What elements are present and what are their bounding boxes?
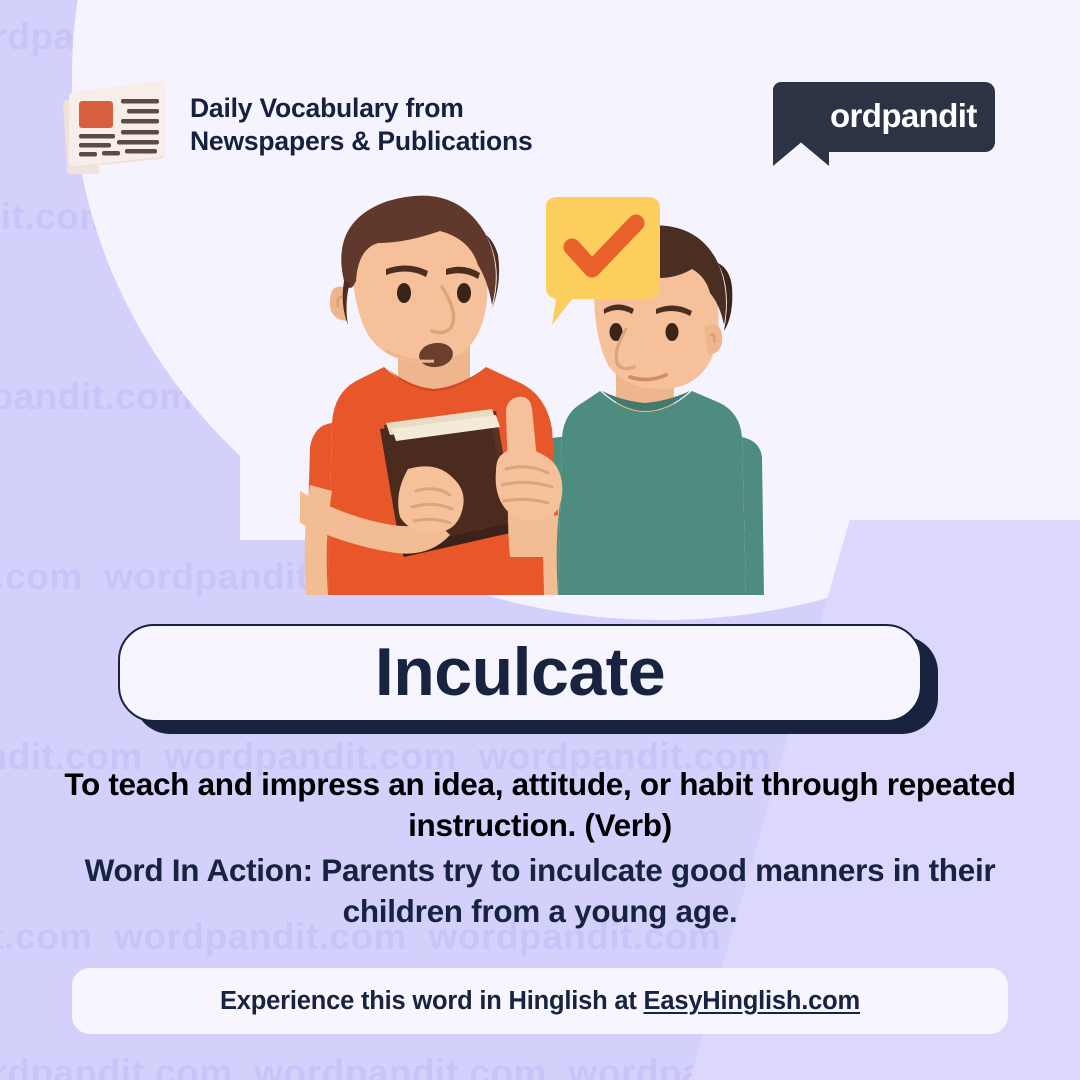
word-in-action-example: Word In Action: Parents try to inculcate…: [40, 850, 1040, 931]
man-teaching-boy-illustration: [300, 185, 780, 595]
vocabulary-word: Inculcate: [375, 638, 665, 706]
footer-text: Experience this word in Hinglish at Easy…: [220, 987, 860, 1016]
wordpandit-logo[interactable]: ordpandit: [773, 82, 995, 152]
word-card-surface: Inculcate: [118, 624, 922, 722]
page-title: Daily Vocabulary from Newspapers & Publi…: [190, 92, 533, 158]
word-card: Inculcate: [118, 624, 938, 734]
logo-text: ordpandit: [830, 97, 977, 135]
newspaper-icon: [55, 75, 177, 175]
hinglish-footer-bar[interactable]: Experience this word in Hinglish at Easy…: [72, 968, 1008, 1034]
header-title-line1: Daily Vocabulary from: [190, 92, 533, 125]
footer-prefix: Experience this word in Hinglish at: [220, 987, 644, 1015]
adult-man-figure: [300, 196, 562, 595]
word-definition: To teach and impress an idea, attitude, …: [50, 764, 1030, 845]
header-title-line2: Newspapers & Publications: [190, 125, 533, 158]
easyhinglish-link[interactable]: EasyHinglish.com: [644, 987, 860, 1015]
vocabulary-card-page: wordpandit.com wordpandit.com wordpandit…: [0, 0, 1080, 1080]
